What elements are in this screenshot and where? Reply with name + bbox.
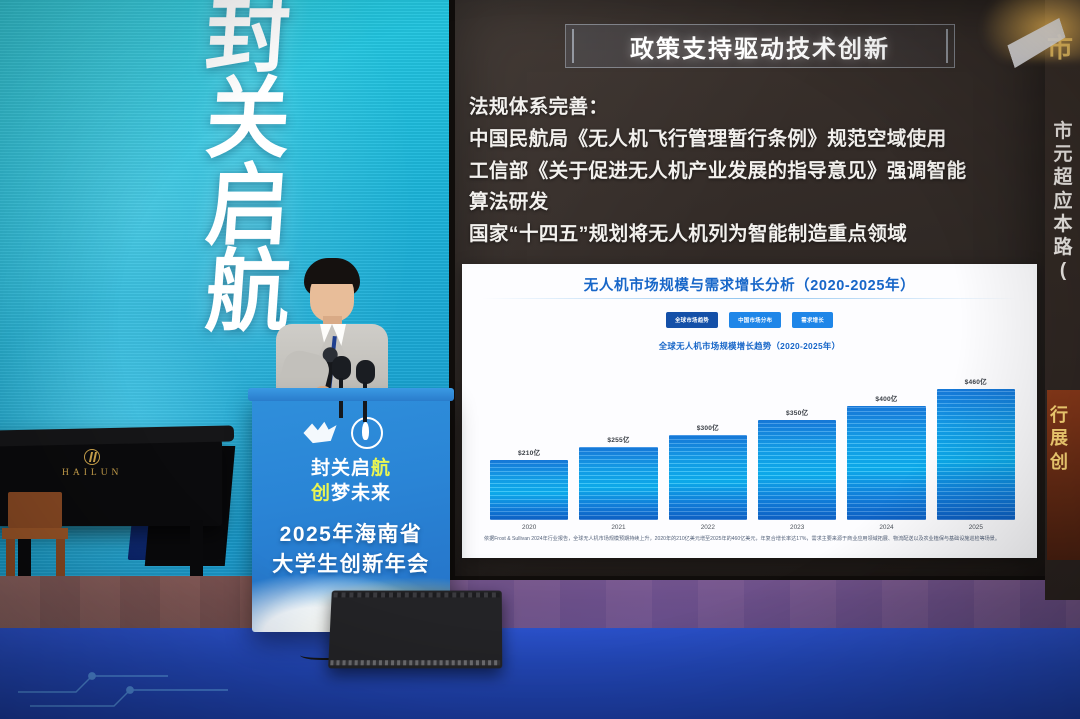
piano-brand-label: HAILUN: [62, 468, 122, 478]
secondary-screen-poster: 行展创: [1047, 390, 1080, 560]
x-tick-label: 2022: [669, 524, 747, 531]
bar-value-label: $400亿: [875, 393, 897, 403]
slogan-line2-b: 梦未来: [331, 483, 391, 504]
slogan-line2-a: 创: [311, 483, 331, 504]
podium-top-surface: [248, 388, 454, 401]
poster-text: 行展创: [1050, 404, 1068, 474]
chart-tabs: 全球市场趋势 中国市场分布 需求增长: [466, 312, 1033, 328]
bar-column: $255亿: [579, 360, 657, 520]
x-tick-label: 2023: [758, 524, 836, 531]
secondary-screen-char: 本: [1049, 213, 1077, 236]
chart-card: 无人机市场规模与需求增长分析（2020-2025年） 全球市场趋势 中国市场分布…: [462, 264, 1037, 558]
body-line-1: 法规体系完善：: [469, 92, 1035, 124]
x-tick-label: 2021: [579, 524, 657, 531]
bar-column: $350亿: [758, 360, 836, 520]
slide-title: 政策支持驱动技术创新: [565, 24, 955, 68]
bar: [847, 406, 925, 520]
bar-column: $400亿: [847, 360, 925, 520]
podium-microphone-left: [332, 356, 345, 414]
bar-value-label: $255亿: [607, 434, 629, 444]
banner-char-3: 启: [203, 164, 293, 251]
stage-floor-monitor: [328, 591, 502, 669]
bar: [937, 389, 1015, 520]
chart-subtitle: 全球无人机市场规模增长趋势（2020-2025年）: [466, 340, 1033, 352]
bar-series: $210亿$255亿$300亿$350亿$400亿$460亿: [490, 360, 1015, 520]
chart-card-title: 无人机市场规模与需求增长分析（2020-2025年）: [466, 274, 1033, 295]
body-line-4: 算法研发: [469, 187, 1035, 219]
conference-line-1: 2025年海南省: [252, 520, 450, 550]
bar: [758, 420, 836, 520]
secondary-screen-char: 超: [1049, 166, 1077, 189]
slogan-line1-a: 封关启: [311, 458, 371, 479]
x-tick-label: 2024: [847, 524, 925, 531]
podium-slogan: 封关启航 创梦未来: [252, 456, 450, 506]
secondary-screen-char: 元: [1049, 143, 1077, 166]
slogan-line1-b: 航: [371, 458, 391, 479]
fringe: [306, 266, 358, 284]
body-line-3: 工信部《关于促进无人机产业发展的指导意见》强调智能: [469, 156, 1035, 188]
slide-title-banner: 政策支持驱动技术创新: [565, 24, 955, 68]
bar: [669, 435, 747, 520]
body-line-2: 中国民航局《无人机飞行管理暂行条例》规范空域使用: [469, 124, 1035, 156]
stage-scene: 封 关 启 航 HAILUN: [0, 0, 1080, 719]
secondary-screen-char: 市: [1049, 120, 1077, 143]
chart-source-note: 依据Frost & Sullivan 2024年行业报告，全球无人机市场规模预期…: [484, 536, 1019, 544]
secondary-screen-text: 市元超应本路(: [1049, 120, 1077, 282]
bar-column: $300亿: [669, 360, 747, 520]
bar-value-label: $210亿: [518, 447, 540, 457]
bar: [490, 460, 568, 520]
body-line-5: 国家“十四五”规划将无人机列为智能制造重点领域: [469, 219, 1035, 251]
banner-char-2: 关: [203, 78, 293, 165]
projection-screen: 政策支持驱动技术创新 法规体系完善： 中国民航局《无人机飞行管理暂行条例》规范空…: [455, 0, 1045, 576]
bar-chart-plot: $210亿$255亿$300亿$350亿$400亿$460亿: [490, 360, 1015, 520]
tab-china-distribution[interactable]: 中国市场分布: [729, 312, 781, 328]
circuit-pattern-icon: [18, 648, 318, 708]
banner-char-1: 封: [203, 0, 293, 79]
tab-global-trend[interactable]: 全球市场趋势: [666, 312, 718, 328]
hailun-logo-icon: [84, 449, 100, 465]
bar: [579, 447, 657, 520]
x-tick-label: 2025: [937, 524, 1015, 531]
secondary-screen-char: (: [1049, 259, 1077, 282]
piano-bench: [2, 492, 70, 578]
wave-emblem-icon: [302, 419, 338, 447]
secondary-screen-char: 应: [1049, 190, 1077, 213]
bar-value-label: $350亿: [786, 407, 808, 417]
bar-column: $210亿: [490, 360, 568, 520]
bar-column: $460亿: [937, 360, 1015, 520]
bar-value-label: $460亿: [965, 376, 987, 386]
x-axis-labels: 202020212022202320242025: [490, 524, 1015, 531]
x-tick-label: 2020: [490, 524, 568, 531]
tab-demand-growth[interactable]: 需求增长: [792, 312, 833, 328]
podium-emblems: [302, 418, 402, 448]
chart-card-divider: [482, 298, 1017, 299]
secondary-screen-char: 路: [1049, 236, 1077, 259]
secondary-screen: 市 市元超应本路( 行展创: [1045, 0, 1080, 600]
slide-body: 法规体系完善： 中国民航局《无人机飞行管理暂行条例》规范空域使用 工信部《关于促…: [469, 92, 1035, 251]
globe-emblem-icon: [351, 417, 383, 449]
bar-value-label: $300亿: [697, 422, 719, 432]
chart-card-inner: 无人机市场规模与需求增长分析（2020-2025年） 全球市场趋势 中国市场分布…: [466, 268, 1033, 554]
